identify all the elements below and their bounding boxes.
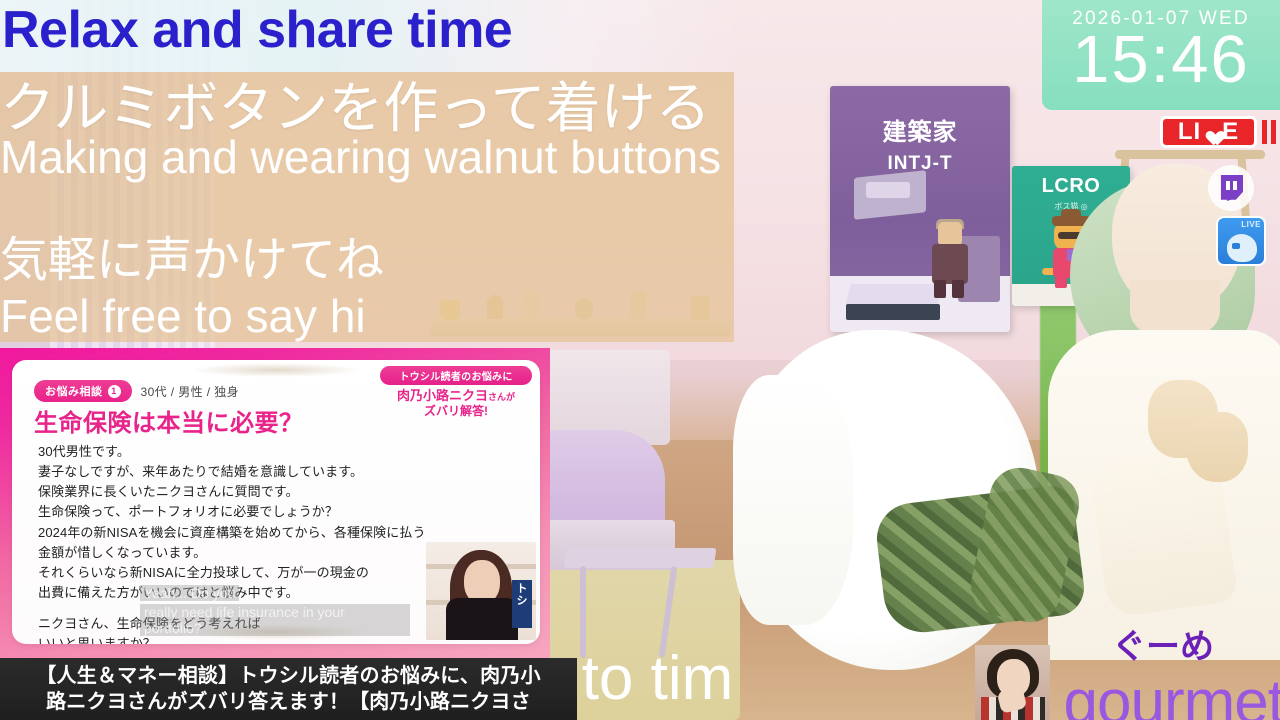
thumbnail-name-badge: トシ xyxy=(512,580,532,628)
article-paper: お悩み相談 1 30代 / 男性 / 独身 生命保険は本当に必要？ 30代男性で… xyxy=(12,360,540,644)
streamer-hand-right xyxy=(1186,412,1248,482)
invite-japanese: 気軽に声かけてね xyxy=(0,236,384,286)
topic-japanese: クルミボタンを作って着ける xyxy=(0,80,711,138)
answer-callout-line2: ズバリ解答! xyxy=(380,404,532,418)
article-panel: お悩み相談 1 30代 / 男性 / 独身 生命保険は本当に必要？ 30代男性で… xyxy=(0,348,550,658)
article-body-line: 生命保険って、ポートフォリオに必要でしょうか？ xyxy=(38,502,426,522)
caption-line-1: 【人生＆マネー相談】トウシル読者のお悩みに、肉乃小 xyxy=(36,663,540,689)
poster-mbti-architect: 建築家 INTJ-T xyxy=(830,86,1010,332)
article-body-line: 2024年の新NISAを機会に資産構築を始めてから、各種保険に払う xyxy=(38,523,426,543)
bluebird-live-label: LIVE xyxy=(1241,220,1261,229)
article-body-line: 保険業界に長くいたニクヨさんに質問です。 xyxy=(38,482,426,502)
page-title: Relax and share time xyxy=(2,4,512,56)
article-tag-label: お悩み相談 xyxy=(45,383,103,399)
clock-time: 15:46 xyxy=(1072,28,1250,92)
pause-icon[interactable] xyxy=(1262,120,1276,144)
figure-leg-right xyxy=(952,280,964,298)
ornament-top xyxy=(191,363,361,377)
answer-name-main: 肉乃小路ニクヨ xyxy=(397,388,488,403)
article-meta: 30代 / 男性 / 独身 xyxy=(141,383,240,400)
article-body-line: 30代男性です。 xyxy=(38,442,426,462)
answer-callout: トウシル読者のお悩みに 肉乃小路ニクヨさんが ズバリ解答! xyxy=(380,366,532,418)
answer-callout-header: トウシル読者のお悩みに xyxy=(380,366,532,385)
article-tag-number: 1 xyxy=(108,385,121,398)
low-table xyxy=(564,548,717,568)
article-tag: お悩み相談 1 xyxy=(34,380,132,402)
inset-camera-view[interactable] xyxy=(975,645,1050,720)
bird-icon xyxy=(1227,234,1257,262)
heart-icon xyxy=(1203,124,1220,140)
article-body-line: それくらいなら新NISAに全力投球して、万が一の現金の xyxy=(38,563,426,583)
article-body-line: 妻子なしですが、来年あたりで結婚を意識しています。 xyxy=(38,462,426,482)
subtitle-line-2: really need life insurance in your portf… xyxy=(140,604,410,636)
figure-head xyxy=(938,222,962,246)
poster-mbti-machine-detail xyxy=(866,182,910,198)
figure-leg-left xyxy=(934,280,946,298)
poster-mbti-desk-base xyxy=(846,304,940,320)
subtitle-overlay: Yeah... Do you really need life insuranc… xyxy=(140,585,410,636)
live-label-left: LI xyxy=(1178,120,1201,144)
gourmet-english: gourmet xyxy=(1064,667,1280,720)
thumbnail-person-body xyxy=(446,598,518,640)
topic-english: Making and wearing walnut buttons xyxy=(0,133,721,181)
gourmet-japanese: ぐーめ xyxy=(1112,619,1214,668)
article-tag-row: お悩み相談 1 30代 / 男性 / 独身 xyxy=(34,380,239,402)
article-headline: 生命保険は本当に必要？ xyxy=(34,403,304,438)
clock-widget: 2026-01-07 WED 15:46 xyxy=(1042,0,1280,110)
caption-line-2: 路ニクヨさんがズバリ答えます！【肉乃小路ニクヨさ xyxy=(46,689,531,715)
white-fabric-edge xyxy=(733,375,853,625)
figure-body xyxy=(932,244,968,284)
bluebird-live-button[interactable]: LIVE xyxy=(1216,216,1266,266)
twitch-button[interactable] xyxy=(1208,165,1254,211)
answer-name-suffix: さんが xyxy=(488,392,515,402)
stream-screen: 建築家 INTJ-T LCRO ボス猫 ◎ xyxy=(0,0,1280,720)
subtitle-line-1: Yeah... Do you xyxy=(140,585,239,601)
live-badge: LI E xyxy=(1160,116,1257,148)
article-thumbnail: トシ xyxy=(426,542,536,640)
twitch-icon xyxy=(1219,175,1243,201)
invite-english: Feel free to say hi xyxy=(0,292,366,340)
article-body-line: 金額が惜しくなっています。 xyxy=(38,543,426,563)
poster-mbti-title: 建築家 xyxy=(830,112,1010,147)
answer-callout-name: 肉乃小路ニクヨさんが xyxy=(380,388,532,404)
poster-mbti-figure xyxy=(928,222,972,296)
caption-bar: 【人生＆マネー相談】トウシル読者のお悩みに、肉乃小 路ニクヨさんがズバリ答えます… xyxy=(0,658,577,720)
